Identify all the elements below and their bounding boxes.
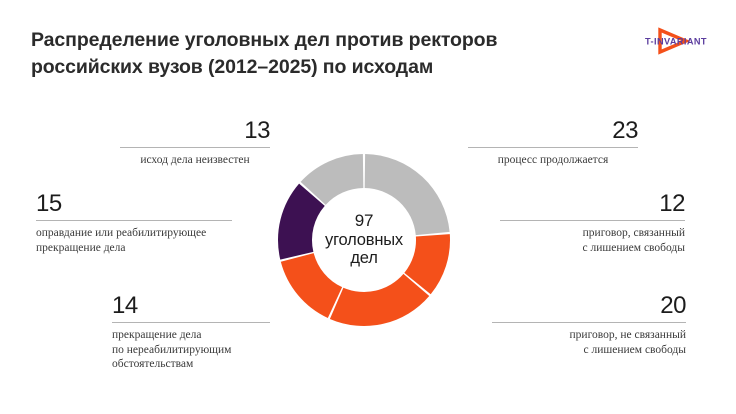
brand-logo: T-INVARIANT — [630, 26, 722, 56]
callout-unknown: 13 исход дела неизвестен — [120, 117, 270, 168]
donut-slice: приговор, не связанный с лишением свобод… — [330, 274, 429, 326]
callout-unknown-desc: исход дела неизвестен — [120, 153, 270, 168]
callout-nonrehab-rule — [112, 322, 270, 323]
callout-nonrehab: 14 прекращение дела по нереабилитирующим… — [112, 292, 270, 372]
callout-acquittal-rule — [36, 220, 232, 221]
callout-nonrehab-value: 14 — [112, 292, 270, 319]
callout-ongoing: 23 процесс продолжается — [468, 117, 638, 168]
callout-nonprison-value: 20 — [492, 292, 686, 319]
donut-chart: процесс продолжается: 23приговор, связан… — [264, 140, 464, 340]
callout-acquittal: 15 оправдание или реабилитирующее прекра… — [36, 190, 232, 255]
callout-unknown-rule — [120, 147, 270, 148]
callout-prison: 12 приговор, связанный с лишением свобод… — [500, 190, 685, 255]
donut-slice: прекращение дела по нереабилитирующим об… — [281, 253, 342, 318]
callout-acquittal-value: 15 — [36, 190, 232, 217]
logo-wordmark: T-INVARIANT — [645, 37, 707, 47]
callout-ongoing-value: 23 — [468, 117, 638, 144]
callout-acquittal-desc: оправдание или реабилитирующее прекращен… — [36, 226, 232, 255]
page-title: Распределение уголовных дел против ректо… — [31, 27, 591, 81]
callout-ongoing-desc: процесс продолжается — [468, 153, 638, 168]
callout-prison-value: 12 — [500, 190, 685, 217]
callout-nonrehab-desc: прекращение дела по нереабилитирующим об… — [112, 328, 270, 372]
callout-prison-rule — [500, 220, 685, 221]
donut-chart-svg: процесс продолжается: 23приговор, связан… — [264, 140, 464, 340]
callout-unknown-value: 13 — [120, 117, 270, 144]
donut-slice: процесс продолжается: 23 — [365, 154, 450, 235]
callout-nonprison: 20 приговор, не связанный с лишением сво… — [492, 292, 686, 357]
callout-prison-desc: приговор, связанный с лишением свободы — [500, 226, 685, 255]
callout-nonprison-desc: приговор, не связанный с лишением свобод… — [492, 328, 686, 357]
callout-nonprison-rule — [492, 322, 686, 323]
callout-ongoing-rule — [468, 147, 638, 148]
